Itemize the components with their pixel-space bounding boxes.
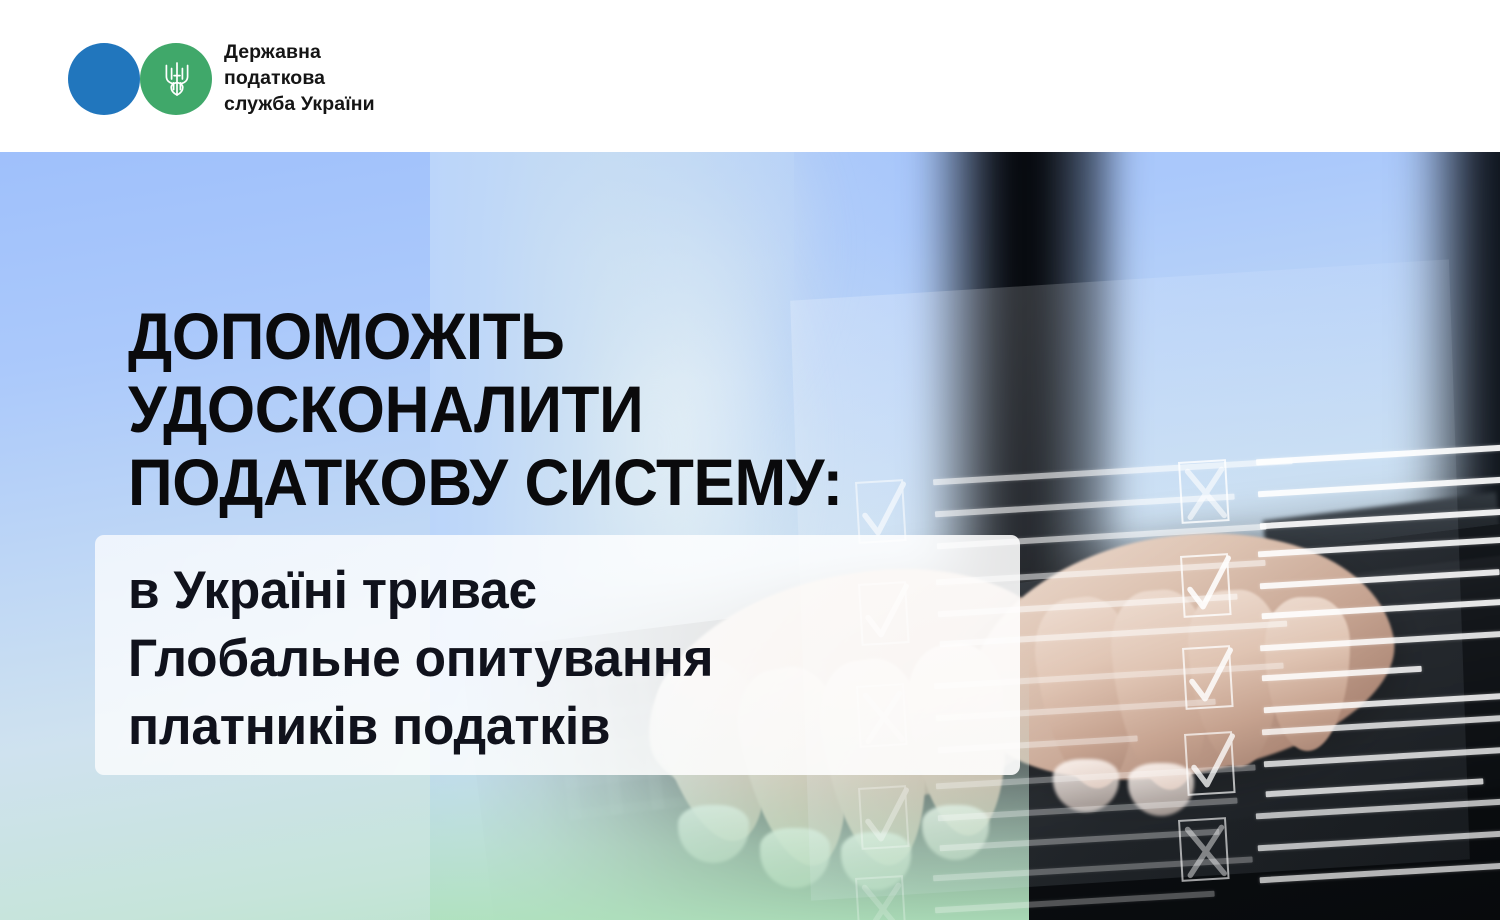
dps-ukraine-logo[interactable]: Державна податкова служба України bbox=[68, 40, 375, 118]
logo-blue-circle-icon bbox=[68, 43, 140, 115]
hero-banner: ДОПОМОЖІТЬ УДОСКОНАЛИТИ ПОДАТКОВУ СИСТЕМ… bbox=[0, 152, 1500, 920]
site-header: Державна податкова служба України bbox=[0, 0, 1500, 152]
banner-page: Державна податкова служба України bbox=[0, 0, 1500, 920]
page-title: ДОПОМОЖІТЬ УДОСКОНАЛИТИ ПОДАТКОВУ СИСТЕМ… bbox=[128, 300, 843, 519]
logo-text: Державна податкова служба України bbox=[224, 40, 375, 118]
logo-marks bbox=[68, 43, 196, 115]
ukraine-trident-icon bbox=[162, 59, 192, 99]
page-subtitle: в Україні триває Глобальне опитування пл… bbox=[128, 557, 713, 761]
